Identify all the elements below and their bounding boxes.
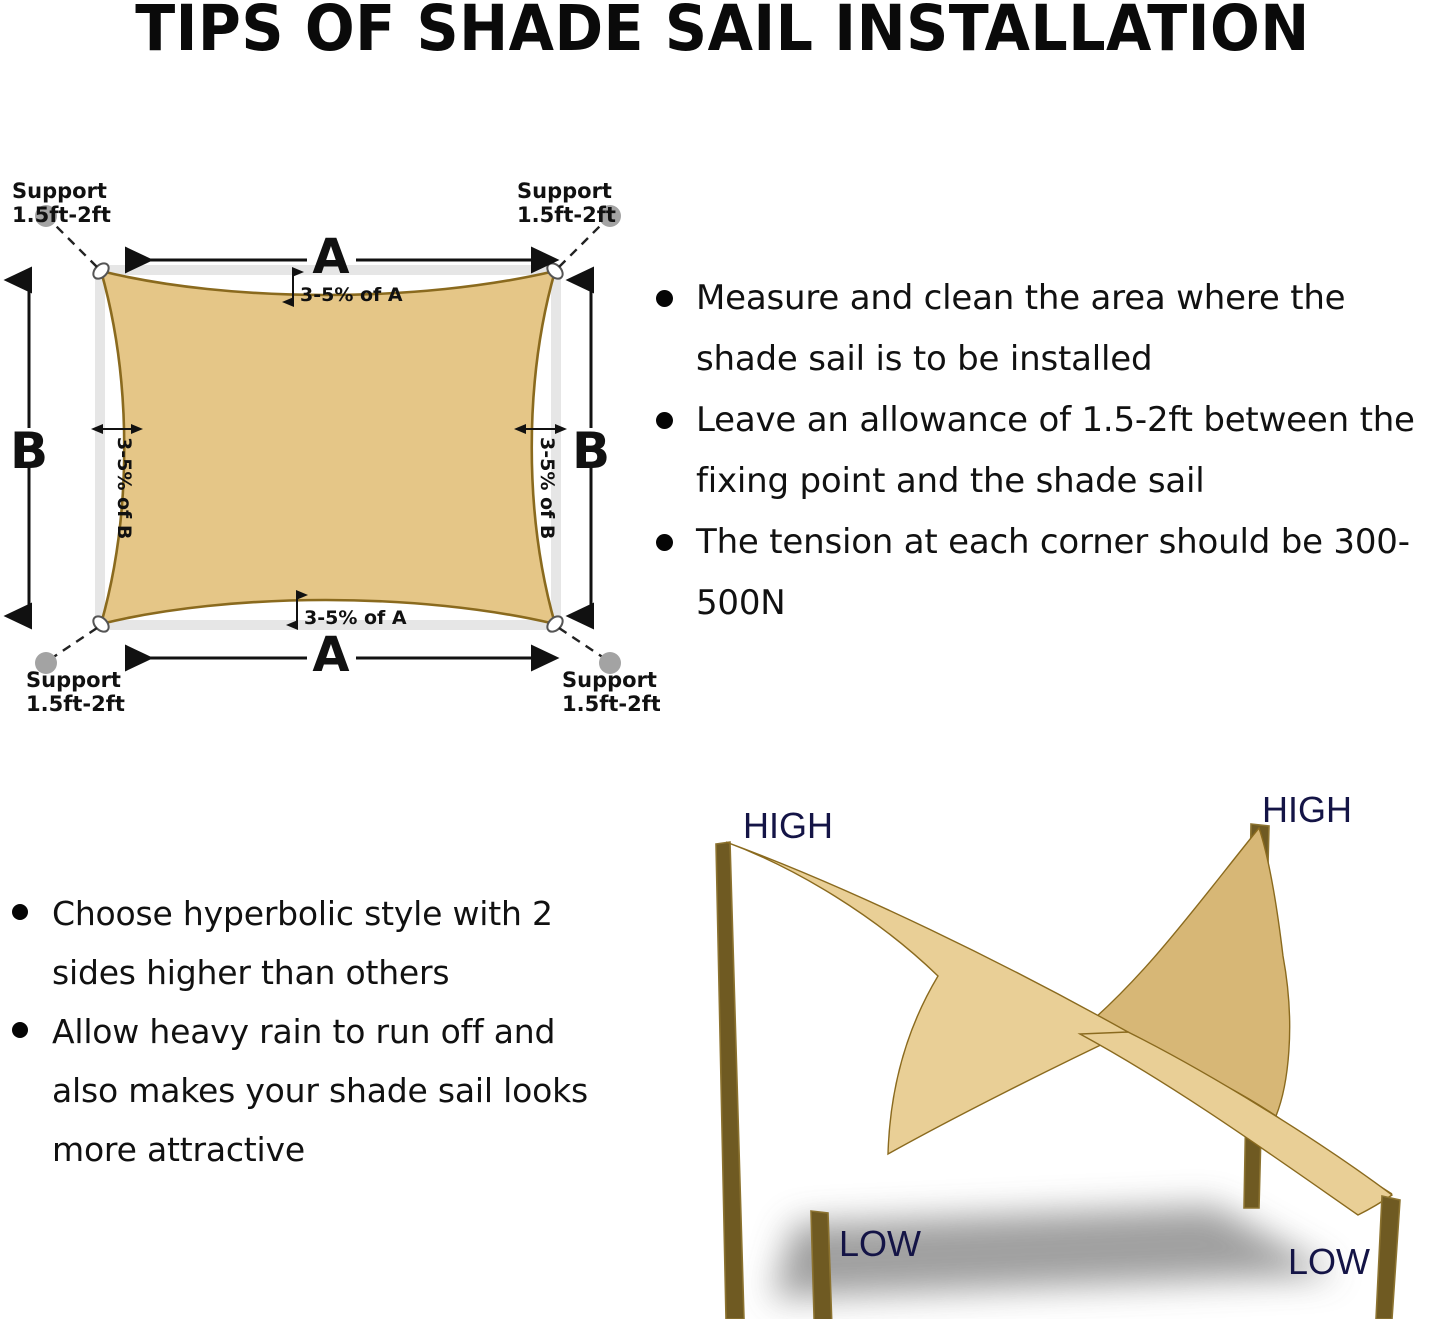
bullet-dot-icon — [12, 1022, 28, 1038]
support-label-bottom-left-line2: 1.5ft-2ft — [26, 692, 125, 716]
support-label-top-right-line2: 1.5ft-2ft — [517, 203, 616, 227]
sail-lobe-front — [726, 842, 1128, 1154]
post-low-right — [1376, 1196, 1400, 1319]
leader-bottom-right — [559, 628, 607, 660]
dimension-label-b-right: B — [572, 422, 610, 480]
list-item: The tension at each corner should be 300… — [648, 512, 1445, 634]
hyperbolic-sail-illustration: HIGH HIGH LOW LOW — [676, 786, 1445, 1319]
label-high-right: HIGH — [1262, 789, 1352, 830]
list-item-text: Allow heavy rain to run off and also mak… — [52, 1012, 588, 1169]
list-item: Leave an allowance of 1.5-2ft between th… — [648, 390, 1445, 512]
post-high-left — [716, 842, 744, 1319]
dimension-label-b-left: B — [10, 422, 48, 480]
label-low-right: LOW — [1288, 1241, 1370, 1282]
dimension-label-a-bottom: A — [312, 627, 349, 683]
leader-bottom-left — [49, 628, 97, 660]
list-item-text: The tension at each corner should be 300… — [696, 522, 1410, 623]
list-item-text: Measure and clean the area where the sha… — [696, 278, 1345, 379]
label-low-left: LOW — [839, 1223, 921, 1264]
bullet-dot-icon — [656, 290, 673, 307]
sail-surface — [726, 828, 1392, 1215]
list-item: Choose hyperbolic style with 2 sides hig… — [6, 884, 626, 1002]
bullet-dot-icon — [12, 904, 28, 920]
hyperbolic-style-tips-list: Choose hyperbolic style with 2 sides hig… — [6, 884, 626, 1179]
list-item-text: Leave an allowance of 1.5-2ft between th… — [696, 400, 1415, 501]
support-label-top-right-line1: Support — [517, 179, 612, 203]
support-label-bottom-left-line1: Support — [26, 668, 121, 692]
list-item: Measure and clean the area where the sha… — [648, 268, 1445, 390]
support-label-bottom-right-line1: Support — [562, 668, 657, 692]
support-label-bottom-right-line2: 1.5ft-2ft — [562, 692, 660, 716]
installation-tips-list: Measure and clean the area where the sha… — [648, 268, 1445, 634]
callout-label-curve-right: 3-5% of B — [536, 437, 558, 539]
shade-sail-shape — [101, 271, 555, 624]
list-item: Allow heavy rain to run off and also mak… — [6, 1002, 626, 1179]
dimension-label-a-top: A — [312, 229, 349, 285]
bullet-dot-icon — [656, 534, 673, 551]
label-high-left: HIGH — [743, 805, 833, 846]
support-label-top-left-line2: 1.5ft-2ft — [12, 203, 111, 227]
page-title: TIPS OF SHADE SAIL INSTALLATION — [51, 0, 1395, 64]
callout-label-curve-top: 3-5% of A — [300, 284, 403, 306]
bullet-dot-icon — [656, 412, 673, 429]
callout-label-curve-bottom: 3-5% of A — [304, 607, 407, 629]
rectangular-sail-diagram: Support 1.5ft-2ft Support 1.5ft-2ft Supp… — [0, 160, 660, 740]
callout-label-curve-left: 3-5% of B — [113, 437, 135, 539]
list-item-text: Choose hyperbolic style with 2 sides hig… — [52, 894, 553, 992]
support-label-top-left-line1: Support — [12, 179, 107, 203]
